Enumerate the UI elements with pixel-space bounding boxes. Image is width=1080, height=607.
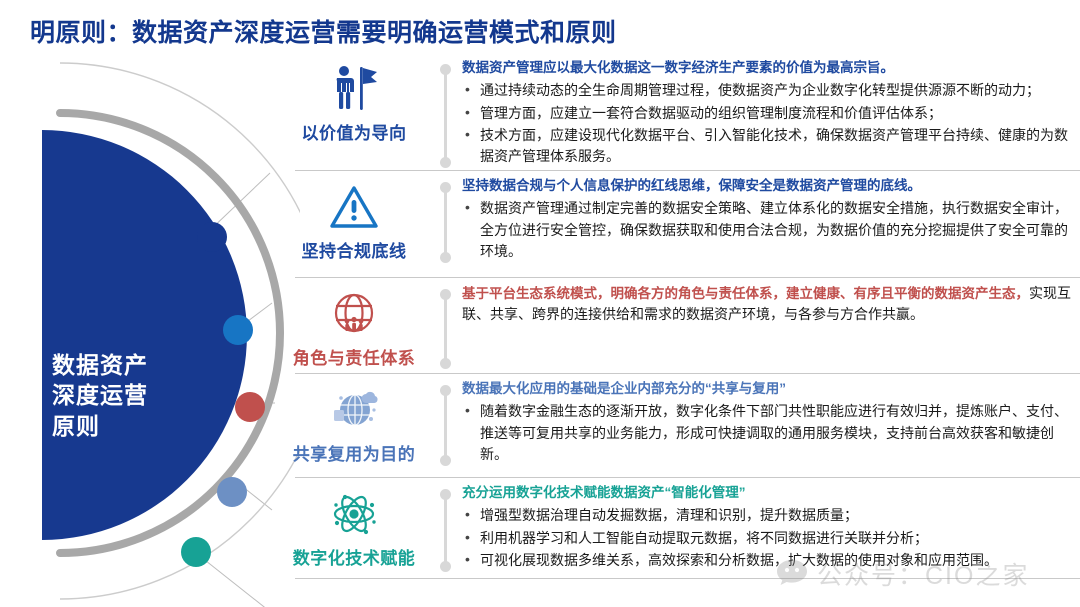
list-item: 可视化展现数据多维关系，高效探索和分析数据，扩大数据的使用对象和应用范围。 [462, 550, 1076, 571]
row-separator-2 [295, 277, 1080, 278]
center-label-line-1: 数据资产 [52, 350, 192, 380]
list-item: 管理方面，应建立一套符合数据驱动的组织管理制度流程和价值评估体系； [462, 103, 1076, 124]
rail-cap-bottom [440, 561, 451, 572]
rail-decoration-4 [438, 385, 452, 466]
center-label-line-3: 原则 [52, 411, 192, 441]
center-semicircle [42, 130, 247, 540]
icon-caption-1: 以价值为导向 [302, 119, 407, 144]
list-item: 通过持续动态的全生命周期管理过程，使数据资产为企业数字化转型提供源源不断的动力； [462, 80, 1076, 101]
rail-cap-bottom [440, 358, 451, 369]
row-separator-3 [295, 373, 1080, 374]
paragraph-3: 基于平台生态系统模式，明确各方的角色与责任体系，建立健康、有序且平衡的数据资产生… [462, 283, 1076, 326]
rail-cap-bottom [440, 157, 451, 168]
icon-caption-5: 数字化技术赋能 [293, 544, 416, 569]
rail-bar [444, 391, 447, 460]
rail-bar [444, 188, 447, 257]
text-column-2: 坚持数据合规与个人信息保护的红线思维，保障安全是数据资产管理的底线。 数据资产管… [452, 176, 1080, 263]
row-separator-5 [295, 578, 1080, 579]
icon-caption-4: 共享复用为目的 [293, 440, 416, 465]
lede-2: 坚持数据合规与个人信息保护的红线思维，保障安全是数据资产管理的底线。 [462, 176, 1076, 196]
rail-bar [444, 295, 447, 363]
globe-cloud-share-icon [323, 383, 385, 437]
rail-bar [444, 70, 447, 162]
node-dot-5 [181, 537, 211, 567]
text-column-5: 充分运用数字化技术赋能数据资产“智能化管理” 增强型数据治理自动发掘数据，清理和… [452, 483, 1080, 572]
lede-3: 基于平台生态系统模式，明确各方的角色与责任体系，建立健康、有序且平衡的数据资产生… [462, 286, 1029, 301]
node-dot-3 [235, 392, 265, 422]
left-diagram-graphic: 数据资产 深度运营 原则 [0, 55, 300, 607]
rail-bar [444, 495, 447, 566]
rail-cap-bottom [440, 252, 451, 263]
list-item: 技术方面，应建设现代化数据平台、引入智能化技术，确保数据资产管理平台持续、健康的… [462, 125, 1076, 168]
text-column-3: 基于平台生态系统模式，明确各方的角色与责任体系，建立健康、有序且平衡的数据资产生… [452, 283, 1080, 326]
bullet-list-2: 数据资产管理通过制定完善的数据安全策略、建立体系化的数据安全措施，执行数据安全审… [462, 198, 1076, 262]
bullet-list-5: 增强型数据治理自动发掘数据，清理和识别，提升数据质量； 利用机器学习和人工智能自… [462, 505, 1076, 571]
warning-triangle-icon [323, 180, 385, 234]
node-dot-1 [197, 222, 227, 252]
list-item: 随着数字金融生态的逐渐开放，数字化条件下部门共性职能应进行有效归并，提炼账户、支… [462, 401, 1076, 465]
list-item: 利用机器学习和人工智能自动提取元数据，将不同数据进行关联并分析； [462, 528, 1076, 549]
principle-row-5[interactable]: 数字化技术赋能 充分运用数字化技术赋能数据资产“智能化管理” 增强型数据治理自动… [270, 483, 1080, 572]
atom-icon [323, 487, 385, 541]
row-separator-1 [295, 170, 1080, 171]
rail-decoration-2 [438, 182, 452, 263]
rail-decoration-1 [438, 64, 452, 168]
text-column-4: 数据最大化应用的基础是企业内部充分的“共享与复用” 随着数字金融生态的逐渐开放，… [452, 379, 1080, 466]
icon-caption-3: 角色与责任体系 [293, 344, 416, 369]
icon-column-5: 数字化技术赋能 [270, 483, 438, 569]
rail-decoration-3 [438, 289, 452, 369]
rail-decoration-5 [438, 489, 452, 572]
center-label: 数据资产 深度运营 原则 [52, 350, 192, 441]
principle-row-1[interactable]: 以价值为导向 数据资产管理应以最大化数据这一数字经济生产要素的价值为最高宗旨。 … [270, 58, 1080, 168]
lede-5: 充分运用数字化技术赋能数据资产“智能化管理” [462, 483, 1076, 503]
list-item: 数据资产管理通过制定完善的数据安全策略、建立体系化的数据安全措施，执行数据安全审… [462, 198, 1076, 262]
list-item: 增强型数据治理自动发掘数据，清理和识别，提升数据质量； [462, 505, 1076, 526]
principle-row-4[interactable]: 共享复用为目的 数据最大化应用的基础是企业内部充分的“共享与复用” 随着数字金融… [270, 379, 1080, 466]
node-dot-2 [223, 315, 253, 345]
slide-root: 明原则：数据资产深度运营需要明确运营模式和原则 [0, 0, 1080, 607]
icon-column-1: 以价值为导向 [270, 58, 438, 144]
rail-cap-bottom [440, 455, 451, 466]
principle-row-2[interactable]: 坚持合规底线 坚持数据合规与个人信息保护的红线思维，保障安全是数据资产管理的底线… [270, 176, 1080, 263]
text-column-1: 数据资产管理应以最大化数据这一数字经济生产要素的价值为最高宗旨。 通过持续动态的… [452, 58, 1080, 168]
center-label-line-2: 深度运营 [52, 380, 192, 410]
lede-1: 数据资产管理应以最大化数据这一数字经济生产要素的价值为最高宗旨。 [462, 58, 1076, 78]
node-dot-4 [217, 477, 247, 507]
principle-row-3[interactable]: 角色与责任体系 基于平台生态系统模式，明确各方的角色与责任体系，建立健康、有序且… [270, 283, 1080, 369]
icon-column-4: 共享复用为目的 [270, 379, 438, 465]
bullet-list-4: 随着数字金融生态的逐渐开放，数字化条件下部门共性职能应进行有效归并，提炼账户、支… [462, 401, 1076, 465]
row-separator-4 [295, 477, 1080, 478]
person-with-flag-icon [323, 62, 385, 116]
icon-column-3: 角色与责任体系 [270, 283, 438, 369]
bullet-list-1: 通过持续动态的全生命周期管理过程，使数据资产为企业数字化转型提供源源不断的动力；… [462, 80, 1076, 167]
lede-4: 数据最大化应用的基础是企业内部充分的“共享与复用” [462, 379, 1076, 399]
page-title: 明原则：数据资产深度运营需要明确运营模式和原则 [30, 13, 617, 49]
globe-people-icon [323, 287, 385, 341]
icon-column-2: 坚持合规底线 [270, 176, 438, 262]
icon-caption-2: 坚持合规底线 [302, 237, 407, 262]
